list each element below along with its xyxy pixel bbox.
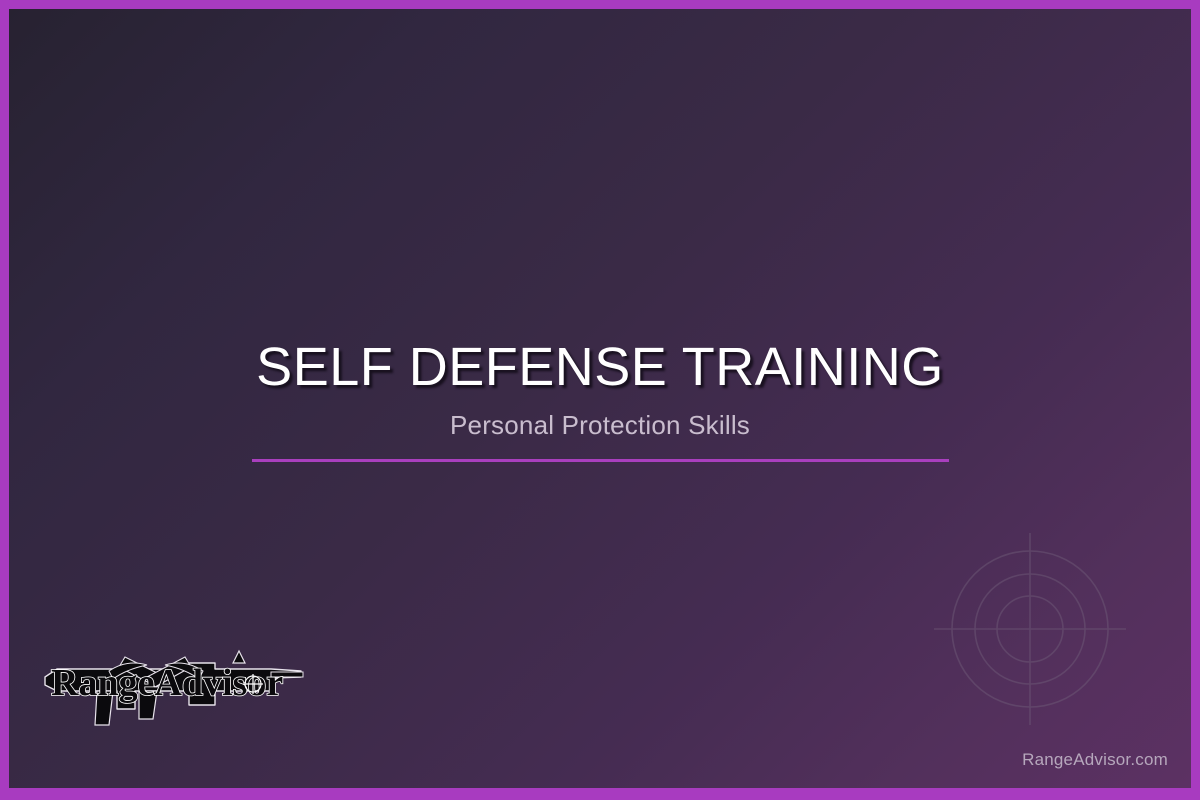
title-divider <box>252 459 949 462</box>
crosshair-target-icon <box>920 519 1140 739</box>
slide-canvas: SELF DEFENSE TRAINING Personal Protectio… <box>9 9 1191 788</box>
presentation-slide: SELF DEFENSE TRAINING Personal Protectio… <box>0 0 1200 800</box>
brand-logo: RangeAdvisor <box>39 647 307 733</box>
title-block: SELF DEFENSE TRAINING Personal Protectio… <box>9 339 1191 462</box>
page-title: SELF DEFENSE TRAINING <box>9 339 1191 396</box>
brand-wordmark: RangeAdvisor <box>51 662 283 704</box>
page-subtitle: Personal Protection Skills <box>9 410 1191 441</box>
footer-website-url: RangeAdvisor.com <box>1022 750 1168 770</box>
